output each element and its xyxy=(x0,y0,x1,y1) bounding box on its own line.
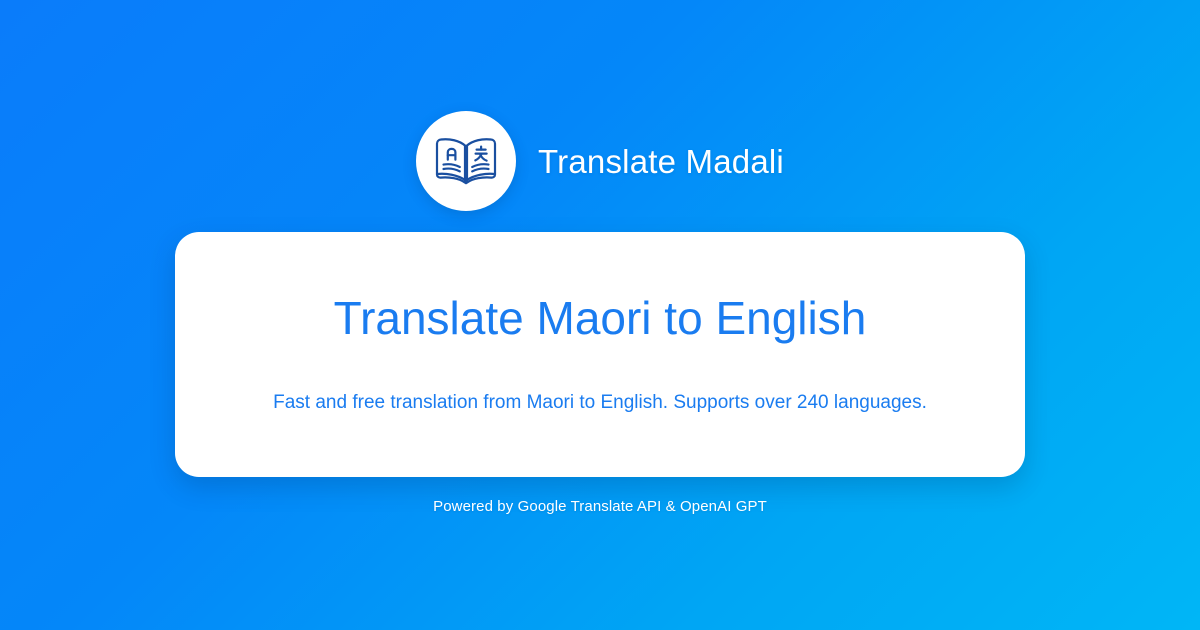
open-book-translate-icon xyxy=(433,133,499,189)
logo-badge xyxy=(416,111,516,211)
brand-name: Translate Madali xyxy=(538,145,784,178)
brand-header: Translate Madali xyxy=(0,111,1200,211)
page-title: Translate Maori to English xyxy=(334,293,867,344)
powered-by-credit: Powered by Google Translate API & OpenAI… xyxy=(0,499,1200,514)
page-subtitle: Fast and free translation from Maori to … xyxy=(273,391,927,416)
hero-card: Translate Maori to English Fast and free… xyxy=(175,232,1025,477)
og-share-card: Translate Madali Translate Maori to Engl… xyxy=(0,0,1200,630)
